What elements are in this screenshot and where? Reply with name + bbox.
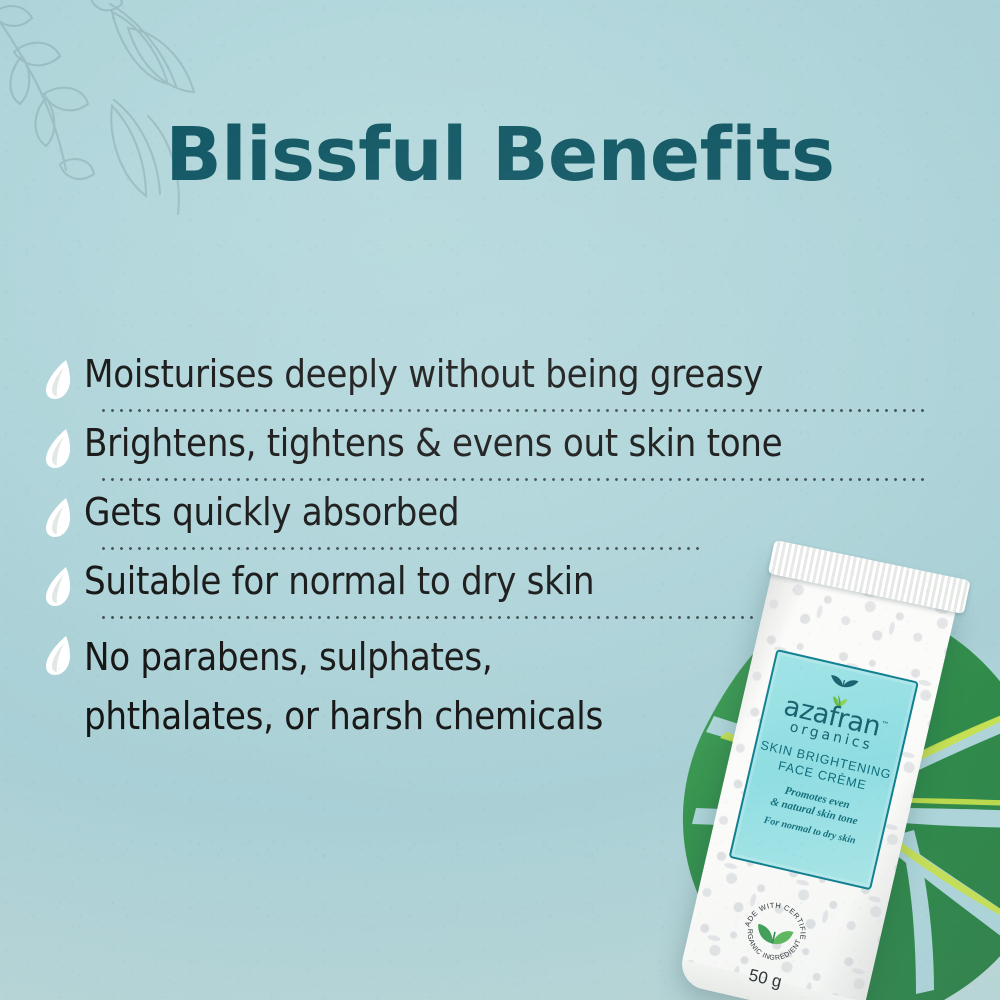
water-drop-bullet-icon <box>44 496 74 538</box>
water-drop-bullet-icon <box>44 565 74 607</box>
page-title: Blissful Benefits <box>0 118 1000 192</box>
list-item: Moisturises deeply without being greasy <box>44 352 944 412</box>
dotted-separator <box>99 478 929 481</box>
dotted-separator <box>99 409 929 412</box>
benefit-text: Gets quickly absorbed <box>84 490 459 536</box>
product-benefits-banner: Blissful Benefits Moisturises deeply wit… <box>0 0 1000 1000</box>
benefit-text: Brightens, tightens & evens out skin ton… <box>84 421 782 467</box>
trademark-symbol: ™ <box>880 719 889 729</box>
dotted-separator <box>99 547 699 550</box>
leaf-flourish-top-icon <box>826 671 862 692</box>
benefit-text: Moisturises deeply without being greasy <box>84 352 763 398</box>
list-item: Brightens, tightens & evens out skin ton… <box>44 421 944 481</box>
dotted-separator <box>99 616 759 619</box>
water-drop-bullet-icon <box>44 427 74 469</box>
water-drop-bullet-icon <box>44 358 74 400</box>
water-drop-bullet-icon <box>44 634 74 676</box>
benefit-text: No parabens, sulphates, phthalates, or h… <box>84 628 603 746</box>
benefit-text: Suitable for normal to dry skin <box>84 559 594 605</box>
